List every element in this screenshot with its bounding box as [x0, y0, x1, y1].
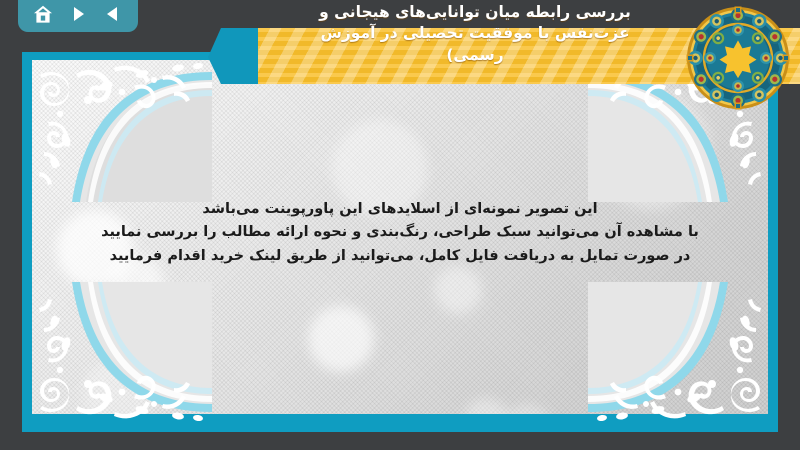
body-line: در صورت تمایل به دریافت فایل کامل، می‌تو… [78, 245, 722, 268]
home-icon [33, 5, 53, 24]
title-line: عزت‌نفس با موفقیت تحصیلی در آموزش [250, 23, 700, 44]
slide-body-text: این تصویر نمونه‌ای از اسلایدهای این پاور… [78, 198, 722, 268]
bokeh-circle [464, 398, 508, 414]
next-slide-button[interactable] [65, 2, 91, 26]
navigation-toolbar [18, 0, 138, 32]
slide-content-panel: این تصویر نمونه‌ای از اسلایدهای این پاور… [32, 60, 768, 414]
home-button[interactable] [30, 2, 56, 26]
slide-viewer: این تصویر نمونه‌ای از اسلایدهای این پاور… [0, 0, 800, 450]
bokeh-circle [308, 306, 374, 372]
body-line: با مشاهده آن می‌توانید سبک طراحی، رنگ‌بن… [78, 221, 722, 244]
title-line: بررسی رابطه میان توانایی‌های هیجانی و [250, 2, 700, 23]
triangle-left-icon [104, 5, 122, 23]
islamic-geometric-medallion-icon [686, 6, 790, 110]
body-line: این تصویر نمونه‌ای از اسلایدهای این پاور… [78, 198, 722, 221]
previous-slide-button[interactable] [100, 2, 126, 26]
bokeh-circle [434, 266, 482, 314]
bokeh-circle [82, 360, 152, 414]
slide-frame: این تصویر نمونه‌ای از اسلایدهای این پاور… [22, 52, 778, 432]
bokeh-circle [502, 404, 554, 414]
triangle-right-icon [69, 5, 87, 23]
